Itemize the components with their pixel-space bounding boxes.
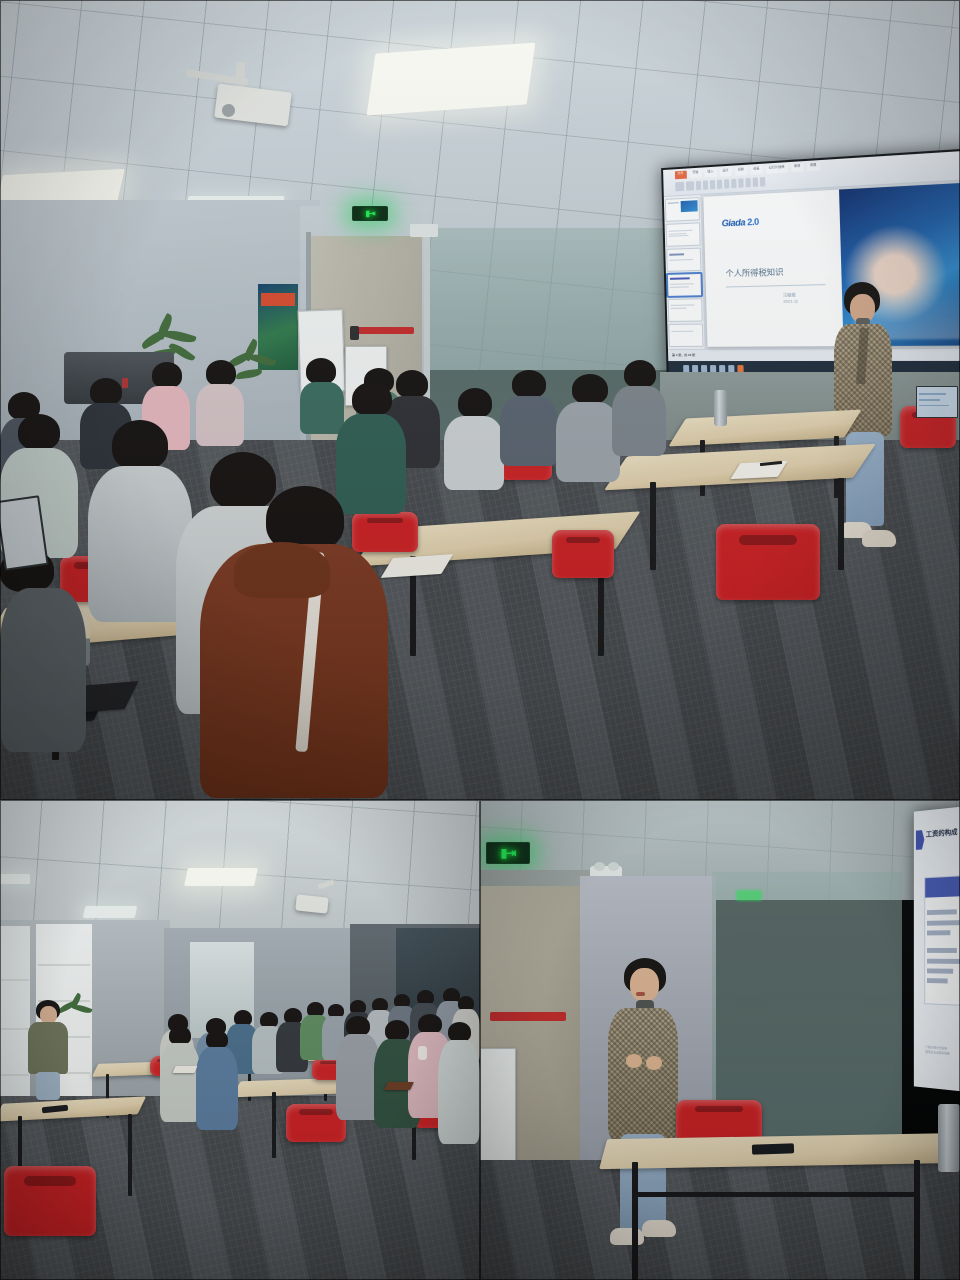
slide-chevron-icon (916, 830, 924, 850)
slide-logo: Giada2.0 (722, 217, 759, 229)
slide-thumbnail[interactable] (665, 197, 700, 222)
slide-date: 2021.11 (783, 298, 798, 305)
ribbon-button[interactable] (738, 178, 743, 188)
presenter-jeans (36, 1072, 60, 1100)
slide-thumbnail[interactable] (666, 248, 701, 272)
notebook (172, 1066, 197, 1073)
ribbon-button[interactable] (752, 177, 757, 187)
ribbon-tab[interactable]: 幻灯片放映 (766, 164, 788, 174)
ribbon-button[interactable] (745, 178, 750, 188)
notebook (384, 1082, 414, 1090)
ribbon-button[interactable] (675, 181, 684, 191)
presenter-blazer (608, 1008, 678, 1140)
slide-footer-line: 税率表与速算扣除数 (925, 1049, 949, 1056)
slide-title: 个人所得税知识 (725, 266, 783, 279)
slide-rule (726, 284, 825, 287)
ribbon-tab[interactable]: 文件 (675, 170, 687, 179)
chair[interactable] (4, 1166, 96, 1236)
ribbon-button[interactable] (717, 179, 722, 189)
ribbon-tab[interactable]: 切换 (735, 166, 748, 175)
slide-thumbnail-selected[interactable] (667, 273, 702, 297)
desk-leg (914, 1160, 920, 1280)
attendee (556, 374, 620, 478)
attendee-hood (234, 542, 330, 598)
door-handle[interactable] (350, 326, 359, 340)
presenter-shoe (642, 1220, 676, 1237)
photo-collage: ▮⇥ (0, 0, 960, 1280)
ceiling-light (0, 874, 30, 884)
door-push-bar[interactable] (356, 327, 414, 334)
projector (295, 894, 328, 913)
presenter (604, 958, 680, 1258)
presenter-hand (646, 1056, 662, 1070)
slide-card (924, 875, 960, 1006)
ribbon-button[interactable] (703, 180, 708, 190)
door-push-bar[interactable] (490, 1012, 566, 1021)
attendee-hair (112, 420, 168, 470)
photo-panel-top: ▮⇥ (0, 0, 960, 800)
photo-panel-bottom-left (0, 800, 480, 1280)
attendee (0, 548, 86, 748)
ribbon-button[interactable] (724, 179, 729, 189)
ribbon-button[interactable] (686, 181, 694, 191)
powerpoint-window: 文件 开始 插入 设计 切换 动画 幻灯片放映 审阅 视图 (663, 150, 960, 382)
presenter-shoe (862, 530, 896, 547)
presenter-head (630, 968, 659, 1002)
presenter (28, 1000, 68, 1100)
emergency-light-lamp (594, 862, 605, 871)
desk-leg (650, 482, 656, 570)
ceiling-light (83, 906, 138, 918)
chair[interactable] (552, 530, 614, 578)
ceiling-light (184, 868, 258, 886)
slide-byline: 汪敏敏 2021.11 (783, 292, 798, 305)
slide-logo-text: Giada (722, 218, 746, 229)
slide-thumbnail[interactable] (668, 298, 703, 322)
exit-sign-reflection (736, 890, 762, 901)
ribbon-button[interactable] (731, 178, 736, 188)
desk-leg (838, 478, 844, 570)
ribbon-tab[interactable]: 视图 (807, 162, 820, 171)
attendee (196, 1030, 238, 1130)
ribbon-button[interactable] (696, 180, 701, 190)
slide-thumbnail[interactable] (668, 323, 703, 346)
slide-title: 工资的构成 (926, 827, 958, 840)
attendee (196, 360, 244, 442)
ceiling (0, 800, 480, 930)
desk-rail (636, 1192, 916, 1197)
attendee (200, 486, 388, 794)
presenter-mouth (636, 992, 645, 996)
attendee (444, 388, 504, 486)
ribbon-button[interactable] (710, 180, 715, 190)
emergency-light (410, 224, 438, 237)
slide-thumbnail[interactable] (666, 223, 701, 247)
projection-screen: 工资的构成 个税计算方式说明 税率表与速算扣除数 (914, 806, 960, 1092)
slide-card-header (925, 876, 960, 898)
exit-sign: ▮⇥ (352, 206, 388, 221)
ribbon-tab[interactable]: 审阅 (791, 163, 804, 172)
emergency-light-lamp (608, 862, 619, 871)
projection-screen: 文件 开始 插入 设计 切换 动画 幻灯片放映 审阅 视图 (661, 148, 960, 384)
chair[interactable] (716, 524, 820, 600)
paper-cup (418, 1046, 427, 1060)
ribbon-button[interactable] (760, 177, 765, 187)
exit-sign: ▮⇥ (486, 842, 530, 864)
presenter-hand (626, 1054, 642, 1068)
ppt-status-bar: 第 4 张，共 18 张 (668, 347, 960, 361)
slide-thumbnail-panel[interactable] (664, 195, 706, 348)
smartphone[interactable] (752, 1143, 794, 1154)
slide-logo-mark: 2.0 (747, 217, 759, 228)
floor (480, 1160, 960, 1280)
attendee (500, 370, 558, 462)
whiteboard (480, 1048, 516, 1168)
attendee (612, 360, 666, 452)
ceiling-light (367, 43, 536, 116)
ribbon-tab[interactable]: 设计 (719, 167, 731, 176)
desk-leg (128, 1114, 132, 1196)
thermos (938, 1104, 960, 1172)
desk-leg (272, 1092, 276, 1158)
thermos (714, 390, 727, 426)
ribbon-tab[interactable]: 动画 (750, 165, 763, 174)
attendee (438, 1022, 480, 1144)
attendee (160, 1026, 200, 1122)
presenter-shoe (610, 1228, 644, 1245)
desk-leg (632, 1162, 638, 1280)
shelving-unit (0, 926, 30, 1102)
slide-counter: 第 4 张，共 18 张 (672, 353, 695, 357)
current-slide: 工资的构成 个税计算方式说明 税率表与速算扣除数 (914, 806, 960, 1092)
slide-footer: 个税计算方式说明 税率表与速算扣除数 (925, 1044, 949, 1056)
photo-panel-bottom-right: ▮⇥ 工资的构成 (480, 800, 960, 1280)
ribbon-tab[interactable]: 开始 (689, 169, 701, 178)
ribbon-tab[interactable]: 插入 (704, 168, 716, 177)
laptop[interactable] (916, 386, 958, 418)
